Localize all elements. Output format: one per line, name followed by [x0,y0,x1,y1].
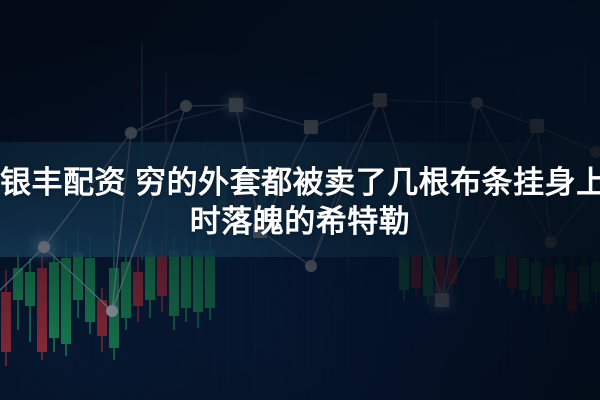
headline-line-2: 时落魄的希特勒 [0,204,600,240]
headline-line-1: 银丰配资 穷的外套都被卖了几根布条挂身上年轻 [0,165,600,201]
banner-image: 银丰配资 穷的外套都被卖了几根布条挂身上年轻 时落魄的希特勒 [0,0,600,400]
